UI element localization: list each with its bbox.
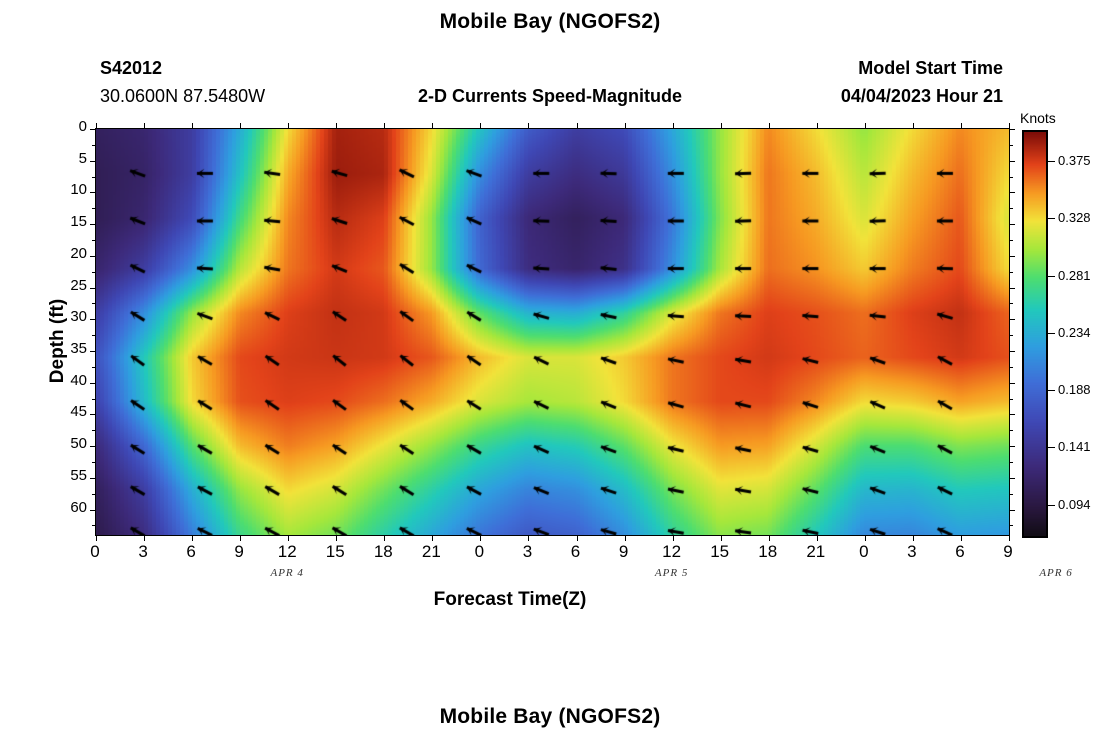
y-tick (1009, 351, 1015, 352)
x-tick-label: 18 (363, 542, 403, 562)
y-tick-minor (1009, 145, 1013, 146)
y-tick-label: 15 (47, 214, 87, 229)
x-tick (721, 535, 722, 541)
colorbar-tick-label: 0.328 (1058, 211, 1091, 224)
y-tick (1009, 510, 1015, 511)
x-tick (577, 535, 578, 541)
y-tick (90, 414, 96, 415)
y-tick-minor (1009, 399, 1013, 400)
y-tick-minor (1009, 177, 1013, 178)
y-tick-minor (92, 462, 96, 463)
x-tick (961, 123, 962, 129)
x-tick (625, 535, 626, 541)
y-tick-minor (92, 430, 96, 431)
y-tick-minor (1009, 367, 1013, 368)
y-tick-minor (92, 145, 96, 146)
y-tick-minor (1009, 430, 1013, 431)
model-start-time-label: Model Start Time (858, 58, 1003, 79)
x-axis-title: Forecast Time(Z) (0, 589, 1020, 611)
x-tick (384, 535, 385, 541)
y-tick-minor (1009, 525, 1013, 526)
y-tick-label: 50 (47, 436, 87, 451)
x-tick (673, 535, 674, 541)
x-tick (817, 535, 818, 541)
colorbar-tick (1046, 447, 1055, 448)
x-tick (240, 123, 241, 129)
x-tick-label: 3 (892, 542, 932, 562)
page-title-top: Mobile Bay (NGOFS2) (0, 10, 1100, 34)
y-tick-label: 10 (47, 182, 87, 197)
colorbar-tick-label: 0.375 (1058, 154, 1091, 167)
x-tick (336, 123, 337, 129)
y-tick (1009, 478, 1015, 479)
colorbar-tick-label: 0.188 (1058, 383, 1091, 396)
colorbar-tick-label: 0.141 (1058, 440, 1091, 453)
y-tick-minor (92, 367, 96, 368)
y-axis-title: Depth (ft) (47, 271, 69, 411)
x-tick-label: 15 (315, 542, 355, 562)
y-tick-label: 55 (47, 468, 87, 483)
x-tick-label: 0 (459, 542, 499, 562)
x-tick (192, 535, 193, 541)
colorbar-tick (1046, 333, 1055, 334)
x-tick (913, 535, 914, 541)
y-tick-label: 20 (47, 246, 87, 261)
x-tick (192, 123, 193, 129)
y-tick (90, 288, 96, 289)
x-tick-label: 6 (171, 542, 211, 562)
y-tick (90, 319, 96, 320)
x-tick (384, 123, 385, 129)
y-tick (90, 224, 96, 225)
y-tick-minor (92, 208, 96, 209)
station-id: S42012 (100, 58, 162, 79)
x-tick-label: 9 (988, 542, 1028, 562)
model-start-time-value: 04/04/2023 Hour 21 (841, 86, 1003, 107)
x-day-label: APR 6 (1021, 567, 1091, 579)
x-tick (721, 123, 722, 129)
colorbar-tick (1046, 505, 1055, 506)
y-tick-minor (92, 335, 96, 336)
x-tick-label: 9 (219, 542, 259, 562)
heatmap-plot-area[interactable] (95, 128, 1010, 536)
page-title-bottom: Mobile Bay (NGOFS2) (0, 705, 1100, 729)
y-tick (1009, 446, 1015, 447)
x-tick-label: 21 (411, 542, 451, 562)
y-tick (1009, 224, 1015, 225)
x-day-label: APR 5 (637, 567, 707, 579)
y-tick-label: 60 (47, 500, 87, 515)
x-tick (432, 123, 433, 129)
x-tick (961, 535, 962, 541)
colorbar-canvas (1024, 132, 1046, 536)
x-tick (913, 123, 914, 129)
x-tick-label: 9 (604, 542, 644, 562)
y-tick (1009, 288, 1015, 289)
x-tick (1009, 535, 1010, 541)
x-tick-label: 6 (556, 542, 596, 562)
x-tick (769, 123, 770, 129)
x-tick-label: 12 (267, 542, 307, 562)
x-tick (144, 535, 145, 541)
y-tick (90, 510, 96, 511)
x-tick (96, 535, 97, 541)
colorbar[interactable] (1022, 130, 1048, 538)
y-tick-minor (92, 399, 96, 400)
x-tick (288, 123, 289, 129)
x-tick-label: 3 (507, 542, 547, 562)
x-tick (769, 535, 770, 541)
heatmap-canvas (96, 129, 1009, 535)
x-tick-label: 18 (748, 542, 788, 562)
y-tick-minor (1009, 335, 1013, 336)
x-tick (817, 123, 818, 129)
y-tick-minor (1009, 208, 1013, 209)
y-tick (90, 383, 96, 384)
x-tick (625, 123, 626, 129)
x-tick (528, 535, 529, 541)
y-tick (1009, 383, 1015, 384)
y-tick (1009, 319, 1015, 320)
y-tick (1009, 192, 1015, 193)
y-tick (90, 351, 96, 352)
colorbar-tick (1046, 218, 1055, 219)
x-tick-label: 21 (796, 542, 836, 562)
x-tick (673, 123, 674, 129)
x-tick (336, 535, 337, 541)
colorbar-tick (1046, 390, 1055, 391)
x-tick-label: 0 (844, 542, 884, 562)
colorbar-tick-label: 0.234 (1058, 326, 1091, 339)
y-tick-minor (92, 240, 96, 241)
y-tick (90, 192, 96, 193)
x-tick-label: 0 (75, 542, 115, 562)
y-tick (90, 256, 96, 257)
colorbar-tick-label: 0.281 (1058, 269, 1091, 282)
x-tick (865, 535, 866, 541)
x-tick (577, 123, 578, 129)
x-tick-label: 12 (652, 542, 692, 562)
x-tick (240, 535, 241, 541)
y-tick (90, 161, 96, 162)
y-tick (1009, 256, 1015, 257)
y-tick-minor (1009, 272, 1013, 273)
y-tick-minor (92, 272, 96, 273)
y-tick-minor (1009, 462, 1013, 463)
x-tick (480, 123, 481, 129)
x-tick (432, 535, 433, 541)
y-tick (90, 446, 96, 447)
colorbar-tick (1046, 276, 1055, 277)
colorbar-tick (1046, 161, 1055, 162)
x-tick (480, 535, 481, 541)
y-tick-minor (1009, 240, 1013, 241)
y-tick (1009, 414, 1015, 415)
x-tick (1009, 123, 1010, 129)
y-tick (1009, 161, 1015, 162)
y-tick (90, 478, 96, 479)
x-tick-label: 15 (700, 542, 740, 562)
x-tick (288, 535, 289, 541)
x-tick (96, 123, 97, 129)
y-tick-minor (92, 525, 96, 526)
y-tick-minor (92, 177, 96, 178)
x-tick (144, 123, 145, 129)
y-tick-label: 0 (47, 119, 87, 134)
x-tick (528, 123, 529, 129)
x-day-label: APR 4 (252, 567, 322, 579)
x-tick-label: 3 (123, 542, 163, 562)
colorbar-title: Knots (1020, 110, 1056, 126)
x-tick-label: 6 (940, 542, 980, 562)
y-tick-minor (92, 494, 96, 495)
x-tick (865, 123, 866, 129)
y-tick-minor (1009, 303, 1013, 304)
y-tick-minor (1009, 494, 1013, 495)
colorbar-tick-label: 0.094 (1058, 498, 1091, 511)
y-tick (1009, 129, 1015, 130)
y-tick (90, 129, 96, 130)
y-tick-minor (92, 303, 96, 304)
y-tick-label: 5 (47, 151, 87, 166)
